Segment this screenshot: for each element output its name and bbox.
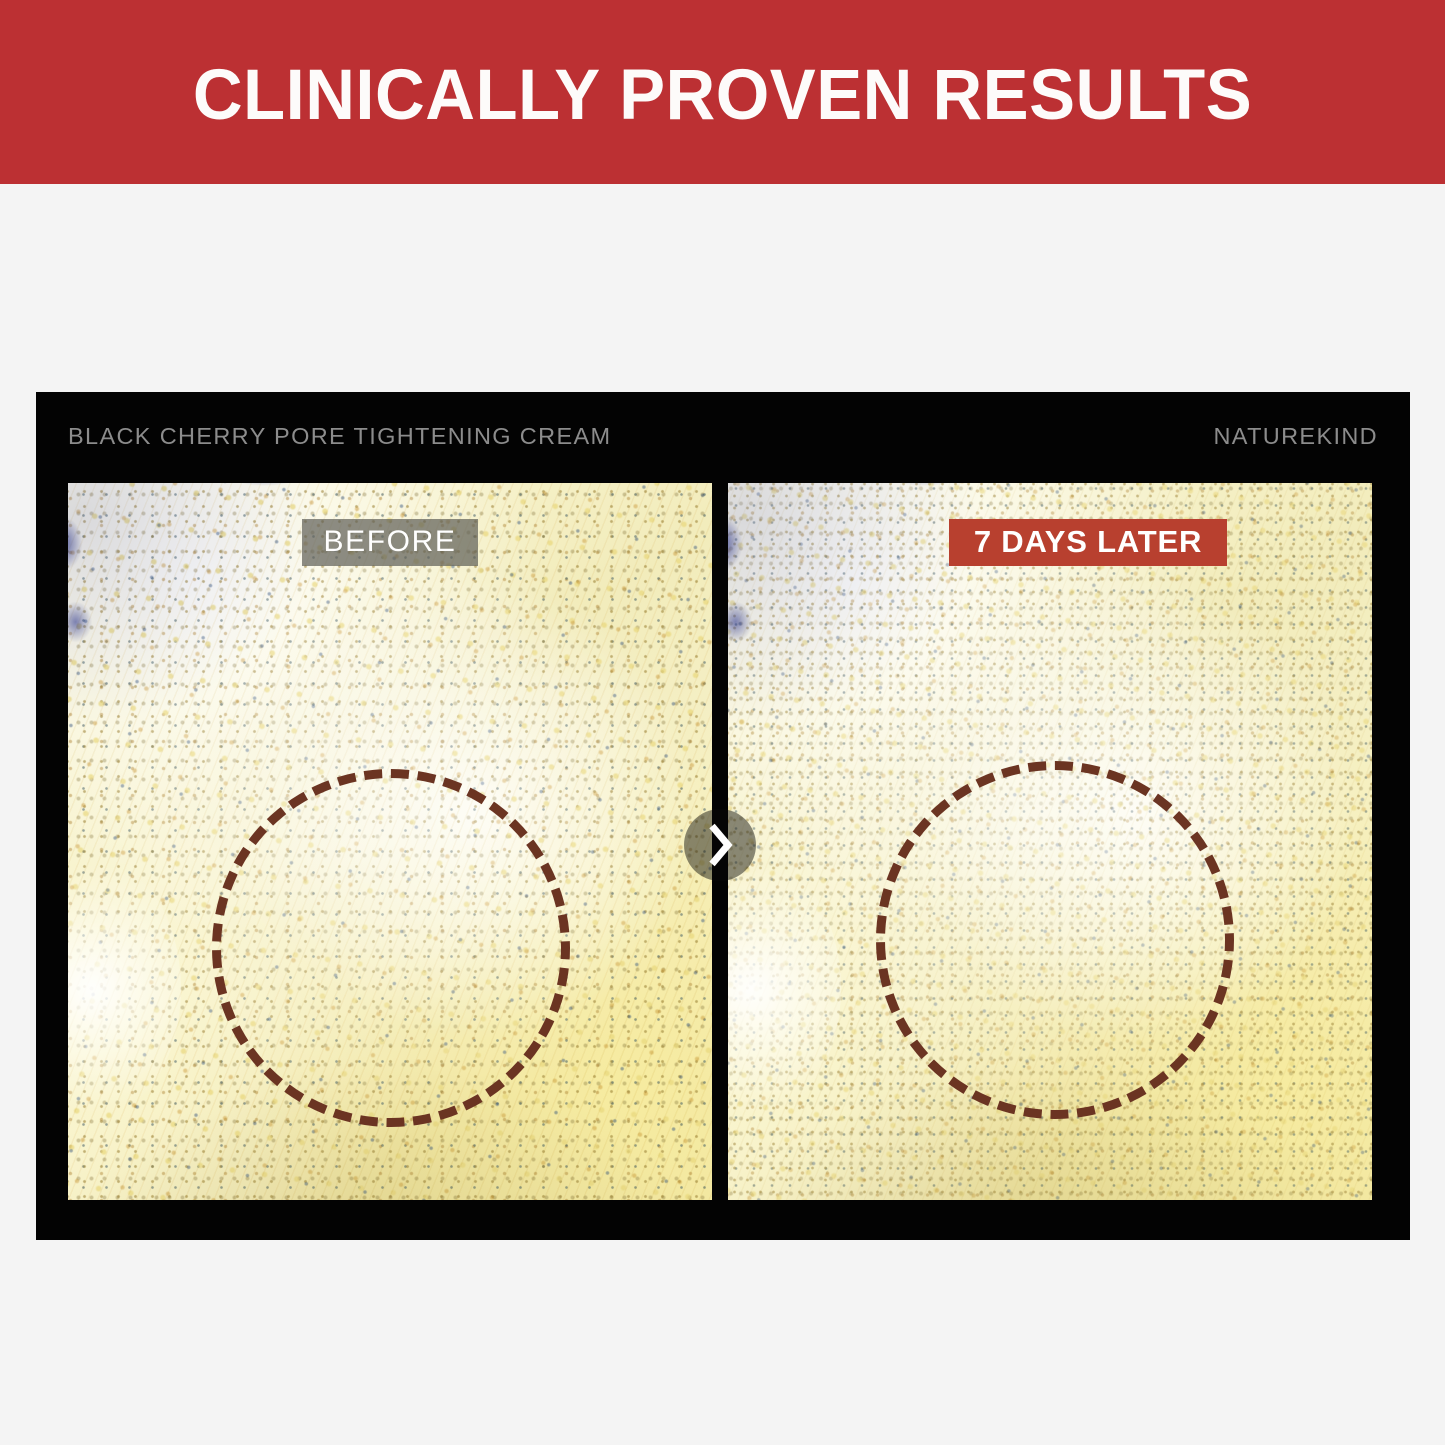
after-image-pane[interactable]: 7 DAYS LATER [728,483,1372,1200]
photo-edge-artifact-top [728,483,1372,493]
brand-name-label: NATUREKIND [1213,423,1378,450]
before-region-of-interest-circle [212,769,570,1127]
chevron-right-icon[interactable] [707,821,733,869]
hero-banner: CLINICALLY PROVEN RESULTS [0,0,1445,184]
before-badge: BEFORE [302,519,478,566]
photo-edge-artifact-left [728,485,772,810]
comparison-header: BLACK CHERRY PORE TIGHTENING CREAM NATUR… [68,414,1378,458]
after-badge: 7 DAYS LATER [949,519,1227,566]
before-image-pane[interactable]: BEFORE [68,483,712,1200]
page-title: CLINICALLY PROVEN RESULTS [22,0,1424,184]
before-after-comparison-panel: BLACK CHERRY PORE TIGHTENING CREAM NATUR… [36,392,1410,1240]
photo-edge-artifact-top [68,483,712,493]
after-region-of-interest-circle [876,761,1234,1119]
photo-edge-artifact-left [68,485,112,810]
product-name-label: BLACK CHERRY PORE TIGHTENING CREAM [68,423,611,450]
